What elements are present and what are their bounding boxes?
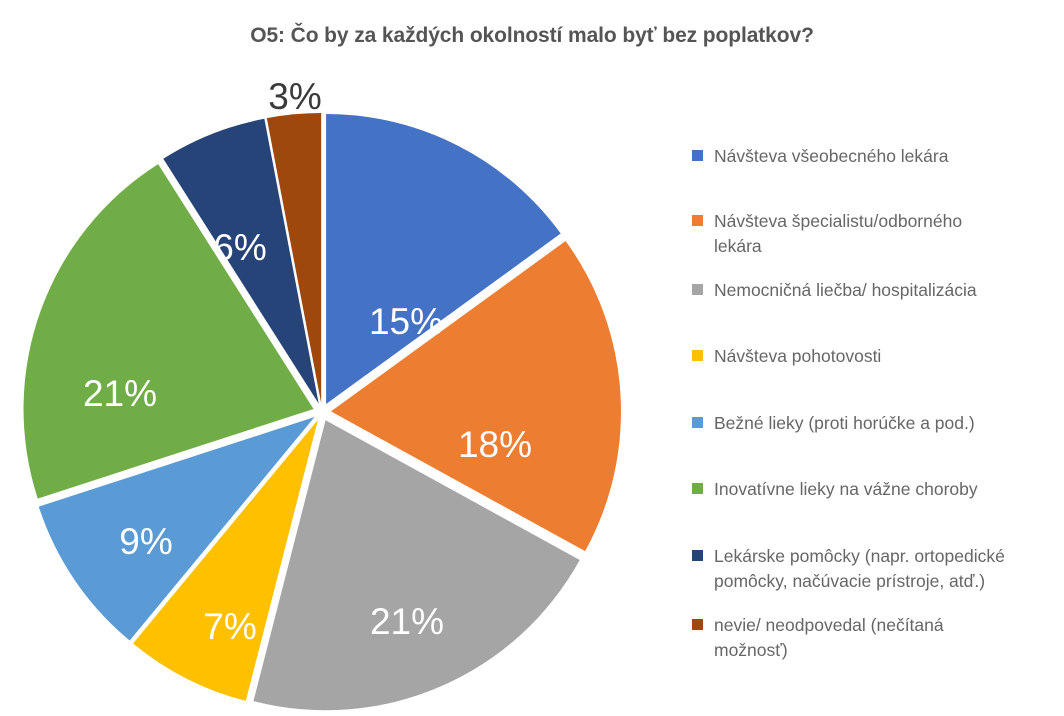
slice-label-nemocnicna-liecba: 21% bbox=[370, 601, 444, 642]
legend-item-label: Návšteva pohotovosti bbox=[714, 344, 881, 369]
slice-label-lekarske-pomocky: 6% bbox=[213, 227, 266, 268]
legend-swatch-icon bbox=[692, 619, 703, 630]
legend-swatch-icon bbox=[692, 150, 703, 161]
legend-item-label: Inovatívne lieky na vážne choroby bbox=[714, 477, 978, 502]
slice-label-inovativne-lieky: 21% bbox=[83, 373, 157, 414]
legend-swatch-icon bbox=[692, 550, 703, 561]
slice-label-navsteva-pohotovosti: 7% bbox=[203, 606, 256, 647]
legend-item-label: Nemocničná liečba/ hospitalizácia bbox=[714, 278, 977, 303]
legend-item-label: nevie/ neodpovedal (nečítaná možnosť) bbox=[714, 613, 944, 663]
pie-svg: 15%18%21%7%9%21%6%3% bbox=[0, 60, 660, 716]
slice-label-nevie-neodpovedal: 3% bbox=[268, 76, 321, 117]
legend-item-4[interactable]: Bežné lieky (proti horúčke a pod.) bbox=[692, 411, 1060, 436]
legend-swatch-icon bbox=[692, 483, 703, 494]
legend-item-2[interactable]: Nemocničná liečba/ hospitalizácia bbox=[692, 278, 1060, 303]
legend-item-label: Návšteva špecialistu/odborného lekára bbox=[714, 209, 962, 259]
legend-item-0[interactable]: Návšteva všeobecného lekára bbox=[692, 144, 1060, 169]
legend-swatch-icon bbox=[692, 350, 703, 361]
slice-label-bezne-lieky: 9% bbox=[119, 521, 172, 562]
legend-swatch-icon bbox=[692, 284, 703, 295]
slice-label-navsteva-vseobecneho-lekara: 15% bbox=[369, 301, 443, 342]
legend-item-6[interactable]: Lekárske pomôcky (napr. ortopedické pomô… bbox=[692, 544, 1060, 594]
legend-item-label: Lekárske pomôcky (napr. ortopedické pomô… bbox=[714, 544, 1005, 594]
legend-item-1[interactable]: Návšteva špecialistu/odborného lekára bbox=[692, 209, 1060, 259]
chart-title: O5: Čo by za každých okolností malo byť … bbox=[0, 24, 1064, 48]
slice-label-navsteva-specialistu: 18% bbox=[458, 424, 532, 465]
legend-item-7[interactable]: nevie/ neodpovedal (nečítaná možnosť) bbox=[692, 613, 1060, 663]
legend-item-label: Návšteva všeobecného lekára bbox=[714, 144, 948, 169]
legend-swatch-icon bbox=[692, 215, 703, 226]
legend-item-3[interactable]: Návšteva pohotovosti bbox=[692, 344, 1060, 369]
legend-swatch-icon bbox=[692, 417, 703, 428]
legend-item-5[interactable]: Inovatívne lieky na vážne choroby bbox=[692, 477, 1060, 502]
legend-item-label: Bežné lieky (proti horúčke a pod.) bbox=[714, 411, 975, 436]
pie-plot-area: 15%18%21%7%9%21%6%3% bbox=[0, 60, 660, 716]
pie-chart-figure: O5: Čo by za každých okolností malo byť … bbox=[0, 0, 1064, 716]
